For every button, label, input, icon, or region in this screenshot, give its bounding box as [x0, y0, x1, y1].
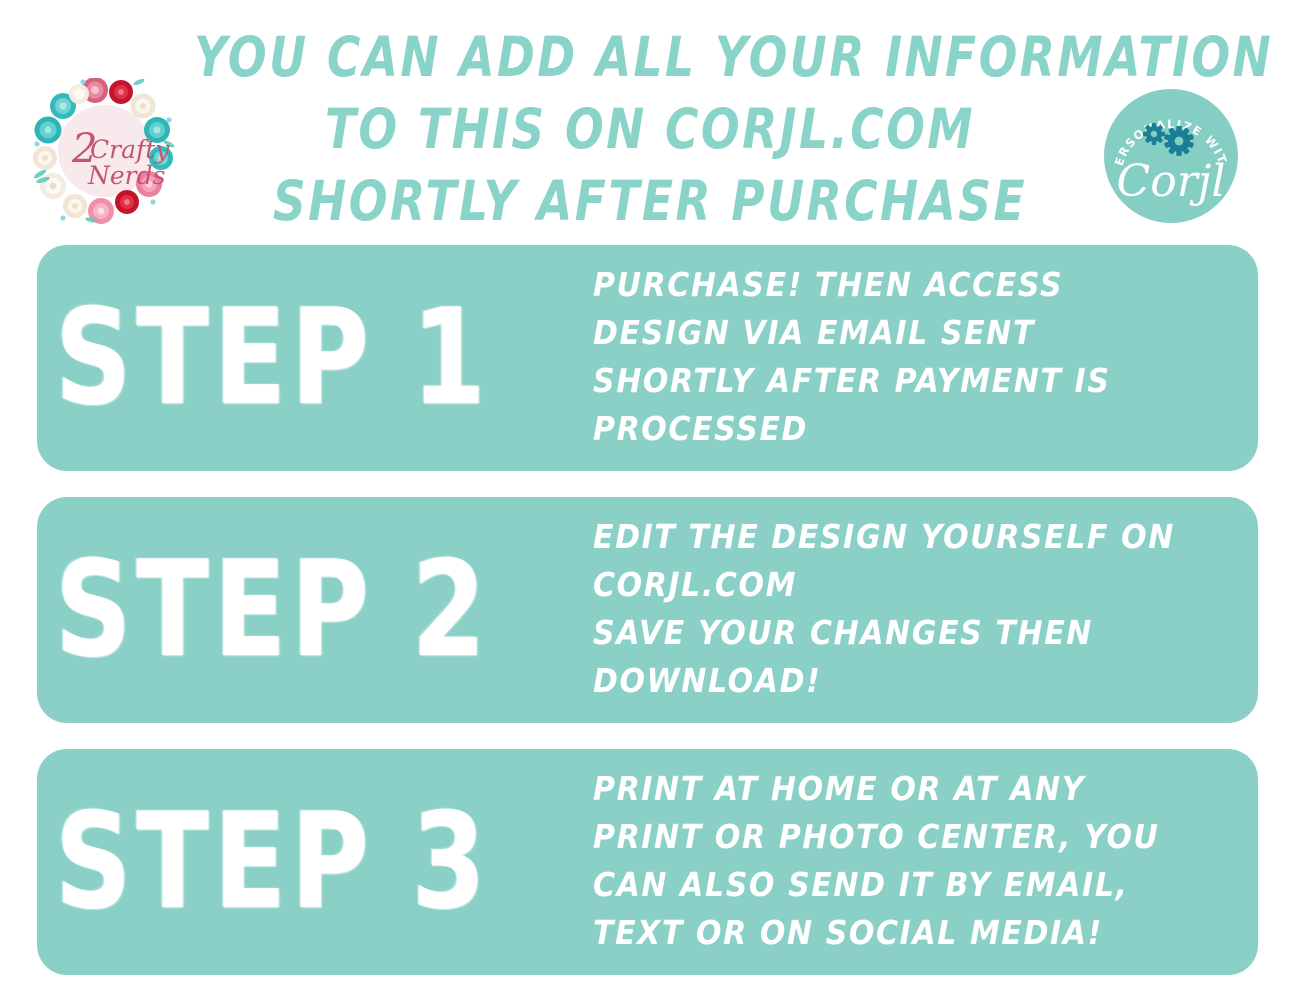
step-3-line-4: TEXT OR ON SOCIAL MEDIA!	[593, 908, 1242, 961]
step-1-line-1: PURCHASE! THEN ACCESS	[593, 260, 1242, 313]
step-1-line-2: DESIGN VIA EMAIL SENT	[593, 308, 1242, 361]
step-2-body: EDIT THE DESIGN YOURSELF ON CORJL.COM SA…	[593, 497, 1258, 723]
header: 2 Crafty Nerds YOU CAN ADD ALL YOUR INFO…	[0, 0, 1294, 238]
step-2-line-2: CORJL.COM	[593, 560, 1242, 613]
step-3-line-1: PRINT AT HOME OR AT ANY	[593, 764, 1242, 817]
floral-wreath-icon: 2 Crafty Nerds	[33, 78, 177, 224]
step-2-line-3: SAVE YOUR CHANGES THEN	[593, 608, 1242, 661]
step-2-label: STEP2	[55, 541, 491, 679]
brand-logo-line2: Nerds	[87, 161, 165, 190]
step-3-label: STEP3	[55, 793, 491, 931]
step-3-label-zone: STEP3	[37, 749, 593, 975]
step-panel-2: STEP2 EDIT THE DESIGN YOURSELF ON CORJL.…	[37, 497, 1258, 723]
step-3-line-2: PRINT OR PHOTO CENTER, YOU	[593, 812, 1242, 865]
step-2-line-1: EDIT THE DESIGN YOURSELF ON	[593, 512, 1242, 565]
corjl-badge: PERSONALIZE WITH	[1103, 88, 1239, 224]
step-panel-1: STEP1 PURCHASE! THEN ACCESS DESIGN VIA E…	[37, 245, 1258, 471]
step-3-body: PRINT AT HOME OR AT ANY PRINT OR PHOTO C…	[593, 749, 1258, 975]
step-2-label-word: STEP	[55, 533, 374, 687]
step-1-label-number: 1	[412, 281, 491, 435]
brand-logo-line1: Crafty	[90, 135, 170, 164]
step-3-label-number: 3	[412, 785, 491, 939]
step-1-label: STEP1	[55, 289, 491, 427]
page-title-line-3: SHORTLY AFTER PURCHASE	[194, 160, 1106, 245]
personalize-with-corjl-badge-icon: PERSONALIZE WITH	[1103, 88, 1239, 224]
page-title: YOU CAN ADD ALL YOUR INFORMATION TO THIS…	[180, 16, 1120, 232]
step-1-body: PURCHASE! THEN ACCESS DESIGN VIA EMAIL S…	[593, 245, 1258, 471]
step-3-line-3: CAN ALSO SEND IT BY EMAIL,	[593, 860, 1242, 913]
step-2-label-number: 2	[412, 533, 491, 687]
badge-wordmark: Corjl	[1117, 156, 1226, 207]
step-1-label-zone: STEP1	[37, 245, 593, 471]
step-1-line-3: SHORTLY AFTER PAYMENT IS	[593, 356, 1242, 409]
steps-list: STEP1 PURCHASE! THEN ACCESS DESIGN VIA E…	[0, 238, 1294, 1000]
step-panel-3: STEP3 PRINT AT HOME OR AT ANY PRINT OR P…	[37, 749, 1258, 975]
step-2-line-4: DOWNLOAD!	[593, 656, 1242, 709]
step-3-label-word: STEP	[55, 785, 374, 939]
step-2-label-zone: STEP2	[37, 497, 593, 723]
brand-logo: 2 Crafty Nerds	[33, 78, 177, 224]
step-1-line-4: PROCESSED	[593, 404, 1242, 457]
gear-icon-small	[1143, 123, 1165, 145]
step-1-label-word: STEP	[55, 281, 374, 435]
